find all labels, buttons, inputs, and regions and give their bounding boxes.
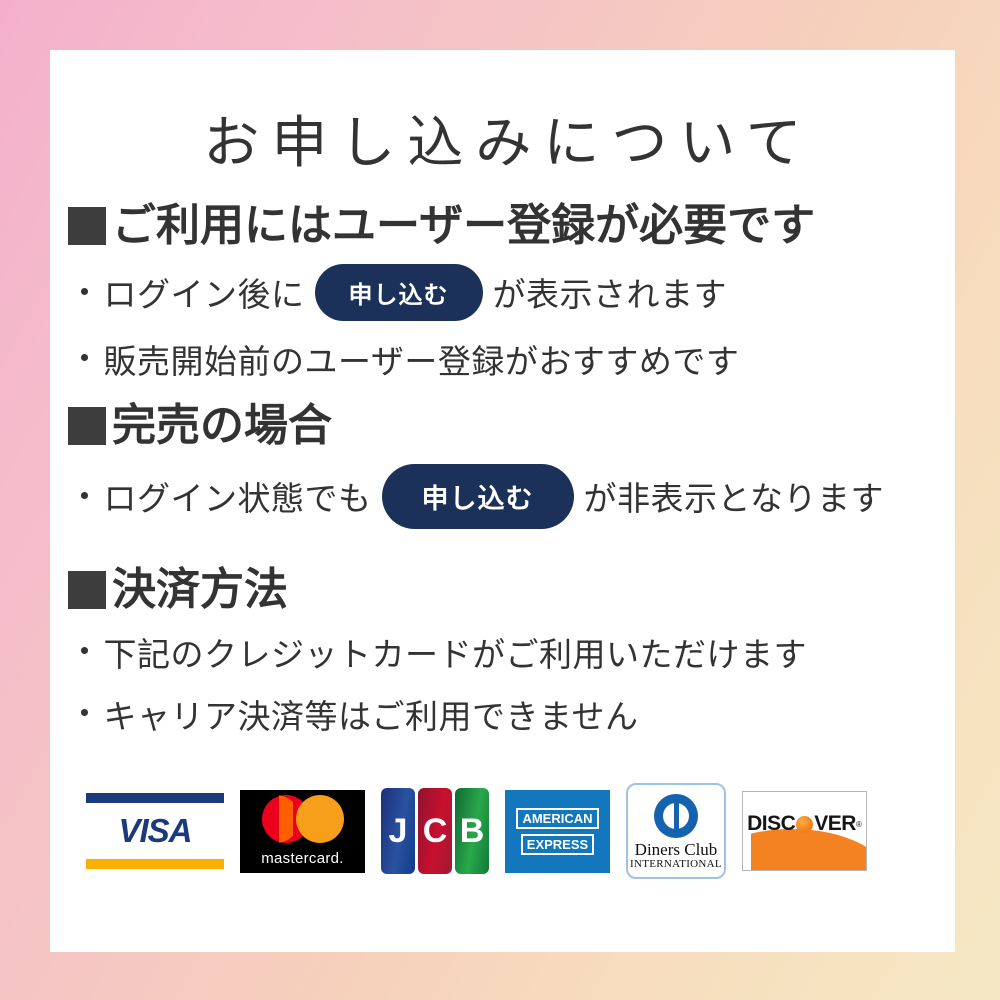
discover-registered-mark: ®: [856, 820, 862, 829]
page-title: お申し込みについて: [50, 98, 955, 179]
list-item: ・ キャリア決済等はご利用できません: [68, 690, 948, 738]
jcb-letter-b: B: [455, 788, 489, 874]
discover-logo-icon: DISC VER ®: [742, 791, 867, 871]
visa-logo-icon: VISA: [86, 793, 224, 869]
apply-button[interactable]: 申し込む: [382, 464, 574, 529]
content-card: お申し込みについて ご利用にはユーザー登録が必要です ・ ログイン後に 申し込む…: [50, 50, 955, 952]
credit-card-logo-row: VISA mastercard. J C B AMERICAN EXPRESS: [86, 783, 926, 879]
section-heading-label: ご利用にはユーザー登録が必要です: [112, 202, 815, 250]
bullet-dot-icon: ・: [68, 635, 102, 668]
mastercard-overlap: [279, 795, 293, 843]
discover-text-pre: DISC: [747, 812, 795, 836]
poster-background: お申し込みについて ご利用にはユーザー登録が必要です ・ ログイン後に 申し込む…: [0, 0, 1000, 1000]
section-heading: 決済方法: [68, 566, 948, 614]
section-heading-label: 決済方法: [112, 566, 288, 614]
square-marker-icon: [68, 407, 106, 445]
mastercard-wordmark: mastercard.: [261, 850, 344, 867]
visa-wordmark: VISA: [118, 812, 191, 850]
amex-line-2: EXPRESS: [521, 834, 594, 855]
mastercard-circles: [262, 795, 344, 843]
diners-club-mark: [654, 794, 698, 838]
discover-text-post: VER: [814, 812, 856, 836]
list-item: ・ 下記のクレジットカードがご利用いただけます: [68, 628, 948, 676]
square-marker-icon: [68, 207, 106, 245]
bullet-dot-icon: ・: [68, 342, 102, 375]
discover-wordmark: DISC VER ®: [747, 812, 862, 836]
visa-top-bar: [86, 793, 224, 803]
amex-line-1: AMERICAN: [516, 808, 598, 829]
jcb-letter-j: J: [381, 788, 415, 874]
list-item-text-before: 下記のクレジットカードがご利用いただけます: [104, 628, 808, 676]
list-item-text-after: が非表示となります: [584, 472, 885, 520]
american-express-logo-icon: AMERICAN EXPRESS: [505, 790, 610, 873]
list-item-text-after: が表示されます: [493, 268, 728, 316]
visa-bottom-bar: [86, 859, 224, 869]
list-item-text-before: 販売開始前のユーザー登録がおすすめです: [104, 335, 740, 383]
section-heading: ご利用にはユーザー登録が必要です: [68, 202, 948, 250]
bullet-dot-icon: ・: [68, 276, 102, 309]
section-heading: 完売の場合: [68, 402, 948, 450]
section-sold-out: 完売の場合 ・ ログイン状態でも 申し込む が非表示となります: [68, 402, 948, 529]
list-item-text-before: キャリア決済等はご利用できません: [104, 690, 639, 738]
section-user-registration: ご利用にはユーザー登録が必要です ・ ログイン後に 申し込む が表示されます ・…: [68, 202, 948, 383]
diners-club-subtitle: INTERNATIONAL: [630, 859, 722, 871]
discover-orange-dot-icon: [796, 816, 813, 833]
jcb-letter-c: C: [418, 788, 452, 874]
bullet-dot-icon: ・: [68, 697, 102, 730]
mastercard-logo-icon: mastercard.: [240, 790, 365, 873]
list-item: ・ ログイン後に 申し込む が表示されます: [68, 264, 948, 321]
section-heading-label: 完売の場合: [112, 402, 332, 450]
jcb-logo-icon: J C B: [381, 788, 489, 874]
list-item-text-before: ログイン状態でも: [104, 472, 372, 520]
apply-button[interactable]: 申し込む: [315, 264, 483, 321]
list-item: ・ ログイン状態でも 申し込む が非表示となります: [68, 464, 948, 529]
diners-club-name: Diners Club: [635, 841, 718, 859]
mastercard-amber-circle: [296, 795, 344, 843]
square-marker-icon: [68, 571, 106, 609]
bullet-dot-icon: ・: [68, 480, 102, 513]
diners-club-logo-icon: Diners Club INTERNATIONAL: [626, 783, 726, 879]
list-item: ・ 販売開始前のユーザー登録がおすすめです: [68, 335, 948, 383]
section-payment-methods: 決済方法 ・ 下記のクレジットカードがご利用いただけます ・ キャリア決済等はご…: [68, 566, 948, 738]
list-item-text-before: ログイン後に: [104, 268, 305, 316]
